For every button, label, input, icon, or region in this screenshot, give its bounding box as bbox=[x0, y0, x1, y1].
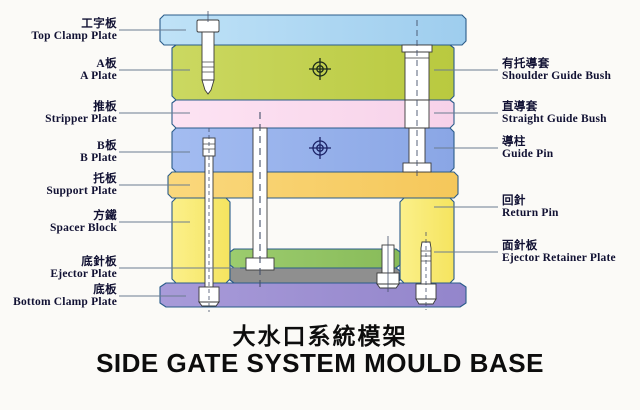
label-support-plate: 托板 Support Plate bbox=[0, 173, 117, 198]
label-guide-pin: 導柱 Guide Pin bbox=[502, 136, 553, 161]
label-en: Ejector Plate bbox=[0, 268, 117, 280]
label-en: Spacer Block bbox=[0, 222, 117, 234]
label-cn: B板 bbox=[0, 140, 117, 152]
title-chinese: 大水口系統模架 bbox=[0, 317, 640, 351]
label-en: A Plate bbox=[0, 70, 117, 82]
label-cn: 推板 bbox=[0, 101, 117, 113]
label-straight-guide-bush: 直導套 Straight Guide Bush bbox=[502, 101, 607, 126]
label-cn: 面針板 bbox=[502, 240, 616, 252]
title-english: SIDE GATE SYSTEM MOULD BASE bbox=[0, 348, 640, 379]
label-en: Straight Guide Bush bbox=[502, 113, 607, 125]
diagram-root: 工字板 Top Clamp Plate A板 A Plate 推板 Stripp… bbox=[0, 0, 640, 410]
label-cn: 底針板 bbox=[0, 256, 117, 268]
label-shoulder-guide-bush: 有托導套 Shoulder Guide Bush bbox=[502, 58, 611, 83]
label-en: Support Plate bbox=[0, 185, 117, 197]
label-ejector-retainer-plate: 面針板 Ejector Retainer Plate bbox=[502, 240, 616, 265]
label-b-plate: B板 B Plate bbox=[0, 140, 117, 165]
label-en: Ejector Retainer Plate bbox=[502, 252, 616, 264]
spacer-block-left bbox=[172, 198, 230, 283]
label-cn: 直導套 bbox=[502, 101, 607, 113]
label-a-plate: A板 A Plate bbox=[0, 58, 117, 83]
label-en: Shoulder Guide Bush bbox=[502, 70, 611, 82]
label-cn: 底板 bbox=[0, 284, 117, 296]
label-ejector-plate: 底針板 Ejector Plate bbox=[0, 256, 117, 281]
label-bottom-clamp-plate: 底板 Bottom Clamp Plate bbox=[0, 284, 117, 309]
label-cn: 導柱 bbox=[502, 136, 553, 148]
label-cn: 方鐵 bbox=[0, 210, 117, 222]
label-return-pin: 回針 Return Pin bbox=[502, 195, 559, 220]
label-stripper-plate: 推板 Stripper Plate bbox=[0, 101, 117, 126]
label-en: Return Pin bbox=[502, 207, 559, 219]
label-en: B Plate bbox=[0, 152, 117, 164]
label-cn: 有托導套 bbox=[502, 58, 611, 70]
label-cn: 托板 bbox=[0, 173, 117, 185]
label-en: Stripper Plate bbox=[0, 113, 117, 125]
label-cn: 回針 bbox=[502, 195, 559, 207]
label-en: Guide Pin bbox=[502, 148, 553, 160]
label-cn: A板 bbox=[0, 58, 117, 70]
label-en: Bottom Clamp Plate bbox=[0, 296, 117, 308]
label-cn: 工字板 bbox=[0, 18, 117, 30]
label-top-clamp-plate: 工字板 Top Clamp Plate bbox=[0, 18, 117, 43]
label-en: Top Clamp Plate bbox=[0, 30, 117, 42]
label-spacer-block: 方鐵 Spacer Block bbox=[0, 210, 117, 235]
